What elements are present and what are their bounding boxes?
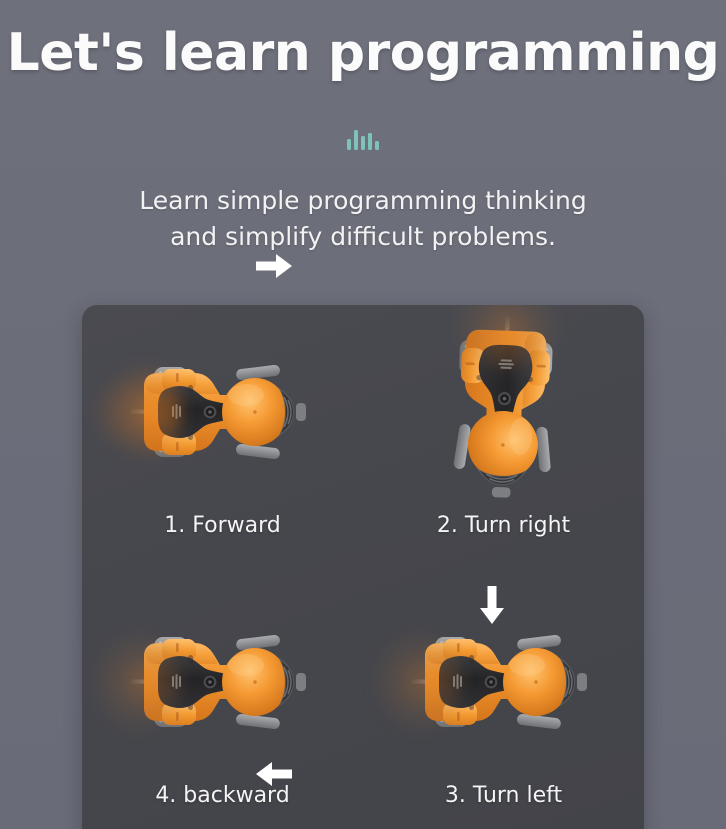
motion-blur — [375, 633, 463, 731]
step-2-turn-right[interactable]: 2. Turn right — [363, 305, 644, 575]
arrow-down-icon — [478, 586, 506, 624]
rc-car-icon — [409, 623, 599, 741]
page-title: Let's learn programming — [0, 22, 726, 84]
arrow-left-icon — [256, 760, 292, 788]
step-4-label: 4. backward — [82, 783, 363, 808]
subtitle-line-1: Learn simple programming thinking — [0, 183, 726, 219]
step-2-image — [363, 305, 644, 517]
step-2-label: 2. Turn right — [363, 513, 644, 538]
subtitle-line-2: and simplify difficult problems. — [0, 219, 726, 255]
step-4-backward[interactable]: 4. backward — [82, 575, 363, 829]
motion-blur — [94, 363, 182, 461]
rc-car-icon — [440, 312, 568, 512]
steps-row-top: 1. Forward 2. Turn right — [82, 305, 644, 575]
bar-chart-icon — [0, 124, 726, 150]
motion-blur — [94, 633, 182, 731]
step-1-forward[interactable]: 1. Forward — [82, 305, 363, 575]
rc-car-icon — [128, 623, 318, 741]
step-1-label: 1. Forward — [82, 513, 363, 538]
steps-row-bottom: 4. backward 3. Turn left — [82, 575, 644, 829]
steps-card: 1. Forward 2. Turn right — [82, 305, 644, 829]
step-1-image — [82, 305, 363, 517]
rc-car-icon — [128, 353, 318, 471]
arrow-right-icon — [256, 252, 292, 280]
step-4-image — [82, 575, 363, 787]
promo-page: Let's learn programming Learn simple pro… — [0, 0, 726, 829]
page-subtitle: Learn simple programming thinking and si… — [0, 183, 726, 255]
step-3-label: 3. Turn left — [363, 783, 644, 808]
